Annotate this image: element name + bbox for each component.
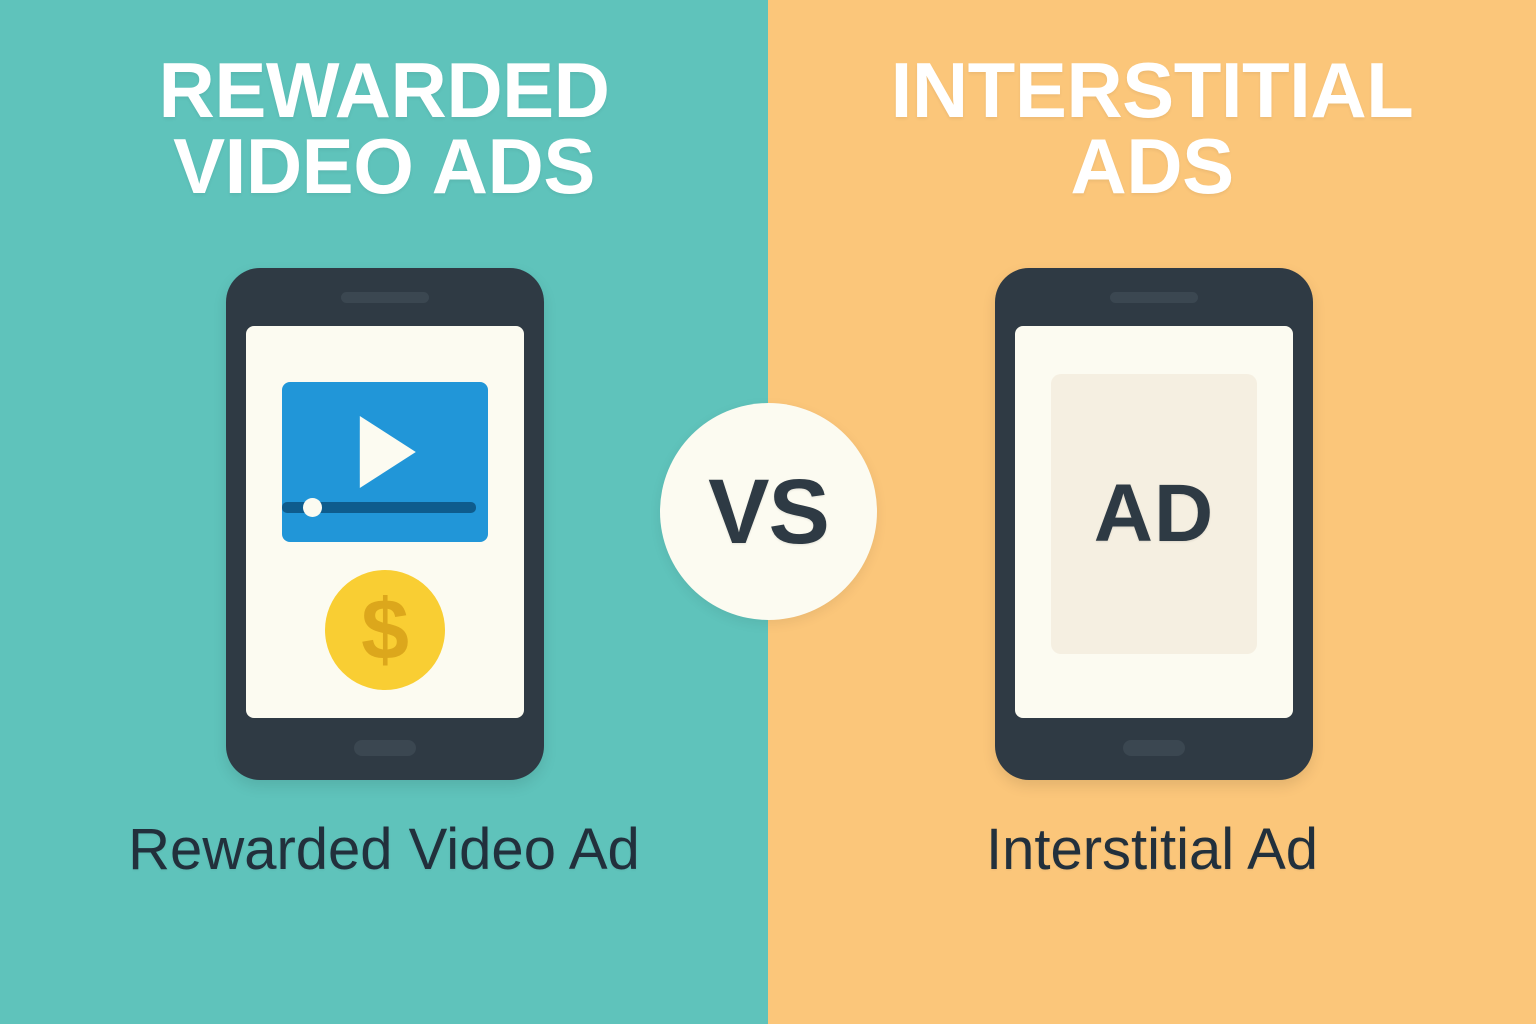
phone-screen: AD (1015, 326, 1293, 718)
versus-badge: VS (660, 403, 877, 620)
play-triangle-icon[interactable] (360, 416, 416, 488)
phone-speaker-icon (341, 292, 429, 303)
phone-body: $ (226, 268, 544, 780)
ad-card-label: AD (1094, 473, 1214, 555)
phone-home-button-icon[interactable] (354, 740, 416, 756)
progress-knob-icon[interactable] (303, 498, 322, 517)
phone-screen: $ (246, 326, 524, 718)
phone-home-button-icon[interactable] (1123, 740, 1185, 756)
interstitial-phone-mockup: AD (995, 268, 1313, 780)
phone-body: AD (995, 268, 1313, 780)
phone-speaker-icon (1110, 292, 1198, 303)
left-panel-heading: REWARDED VIDEO ADS (0, 52, 768, 205)
gold-coin-icon: $ (325, 570, 445, 690)
coin-dollar-symbol: $ (361, 587, 409, 673)
rewarded-video-phone-mockup: $ (226, 268, 544, 780)
left-panel-caption: Rewarded Video Ad (0, 818, 768, 882)
comparison-infographic: REWARDED VIDEO ADS Rewarded Video Ad $ I… (0, 0, 1536, 1024)
versus-label: VS (708, 466, 829, 558)
right-panel-heading: INTERSTITIAL ADS (768, 52, 1536, 205)
interstitial-ad-card[interactable]: AD (1051, 374, 1257, 654)
video-ad-player[interactable] (282, 382, 488, 542)
right-panel-caption: Interstitial Ad (768, 818, 1536, 882)
